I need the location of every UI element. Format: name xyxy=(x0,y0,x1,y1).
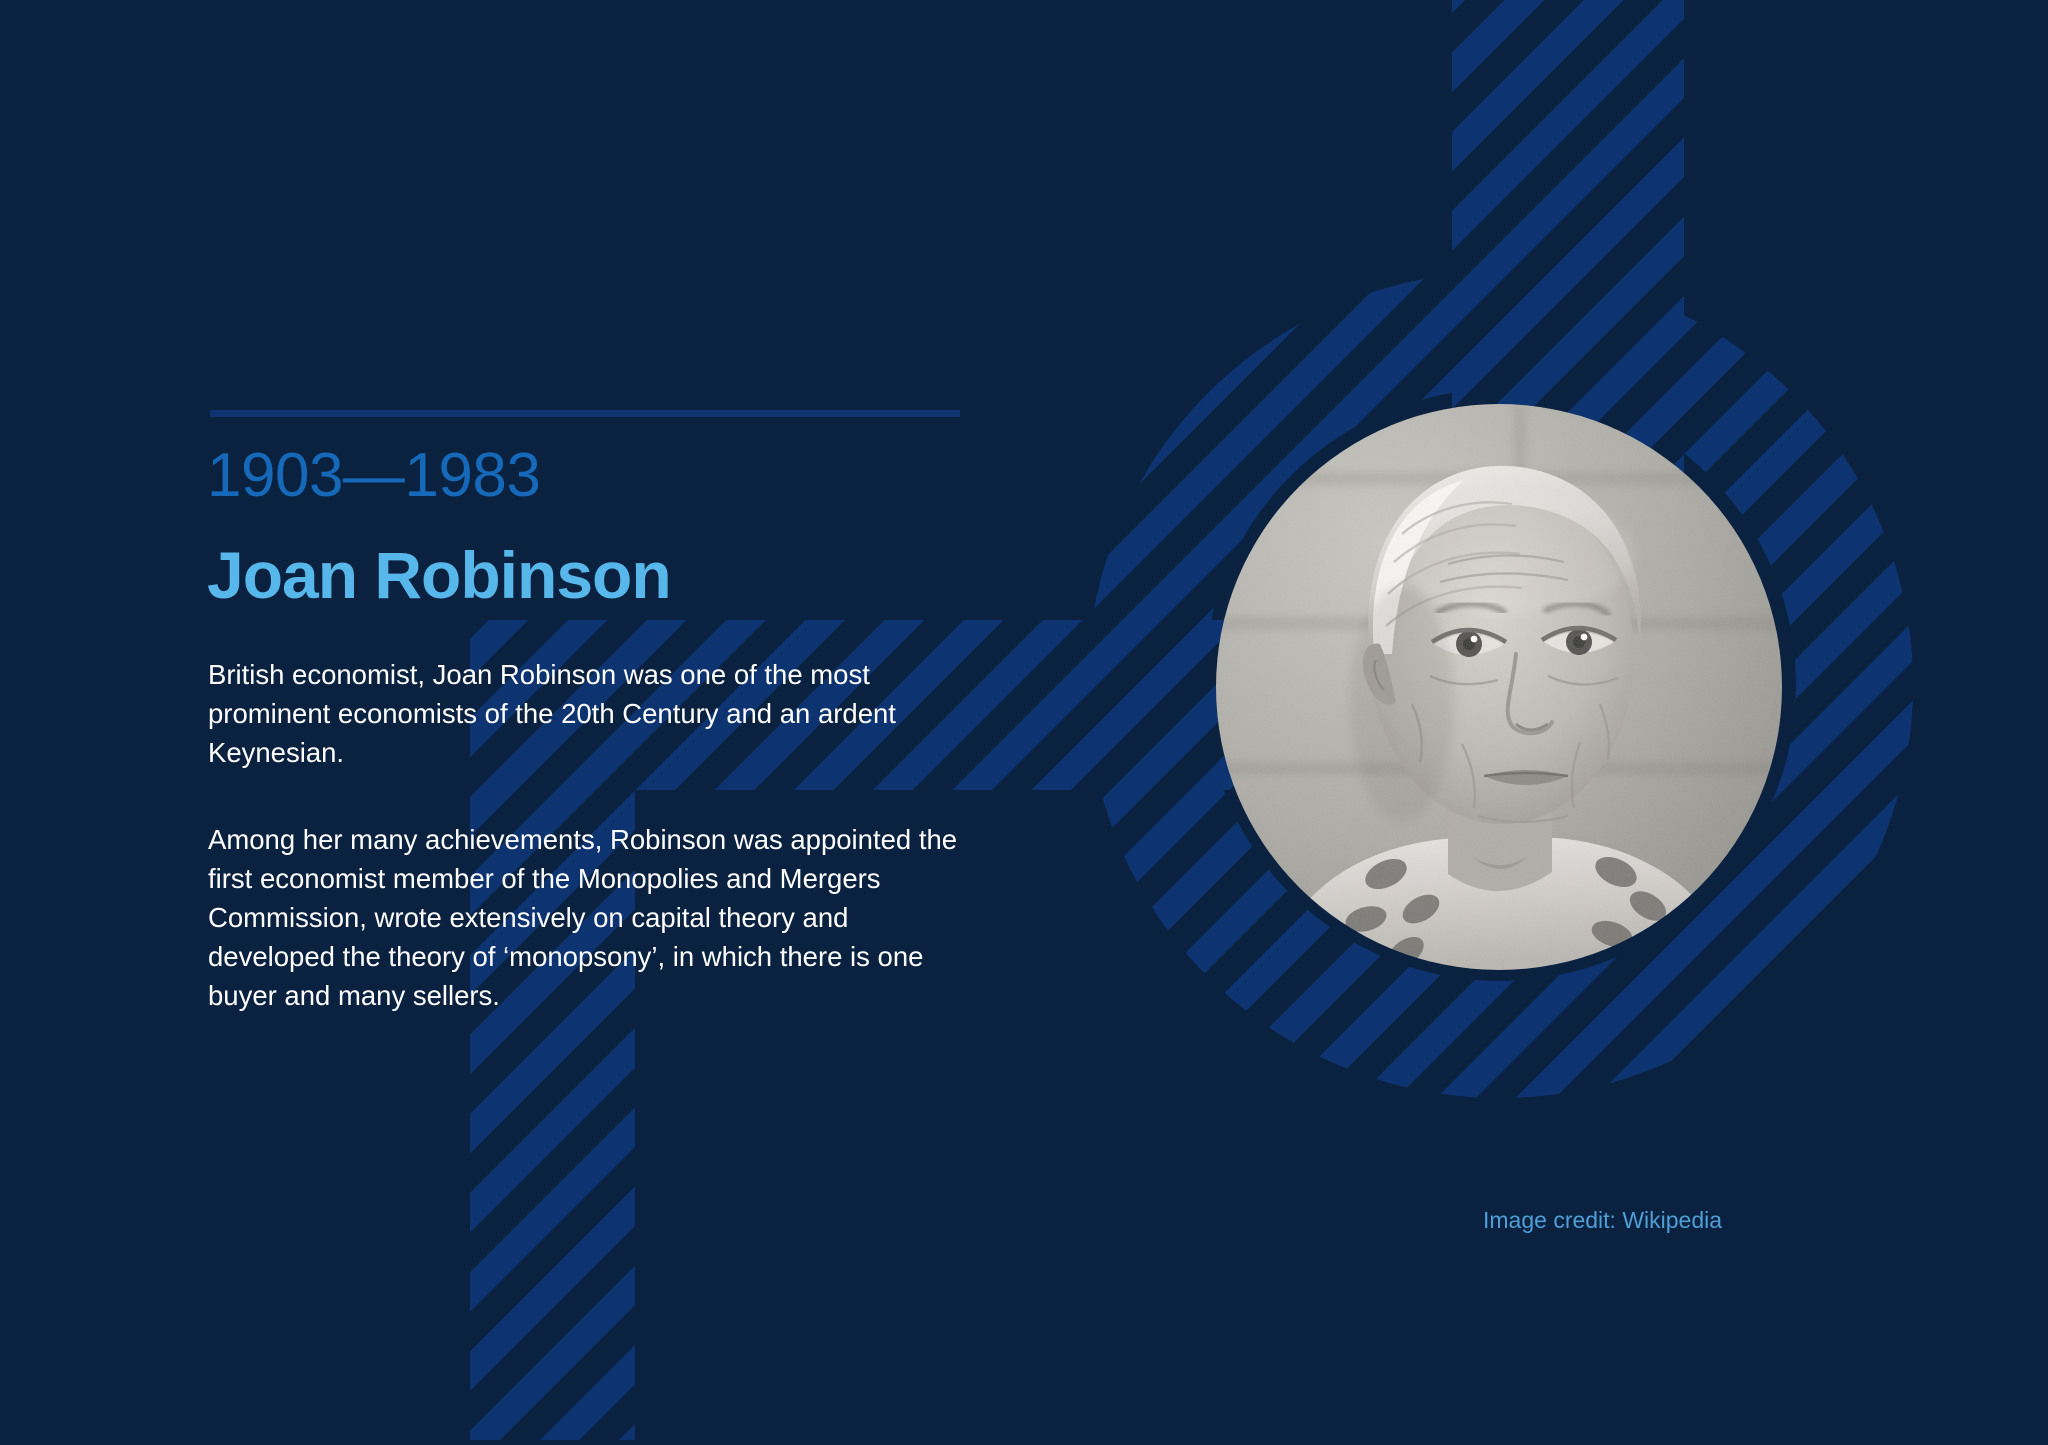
slide-content: 1903—1983 Joan Robinson British economis… xyxy=(0,0,2048,1440)
page-title: Joan Robinson xyxy=(207,537,671,613)
image-credit: Image credit: Wikipedia xyxy=(1483,1207,1722,1234)
biography-paragraph-2: Among her many achievements, Robinson wa… xyxy=(208,820,968,1015)
lifespan-dates: 1903—1983 xyxy=(207,440,540,511)
biography-paragraph-1: British economist, Joan Robinson was one… xyxy=(208,655,968,772)
divider-rule xyxy=(210,410,960,417)
